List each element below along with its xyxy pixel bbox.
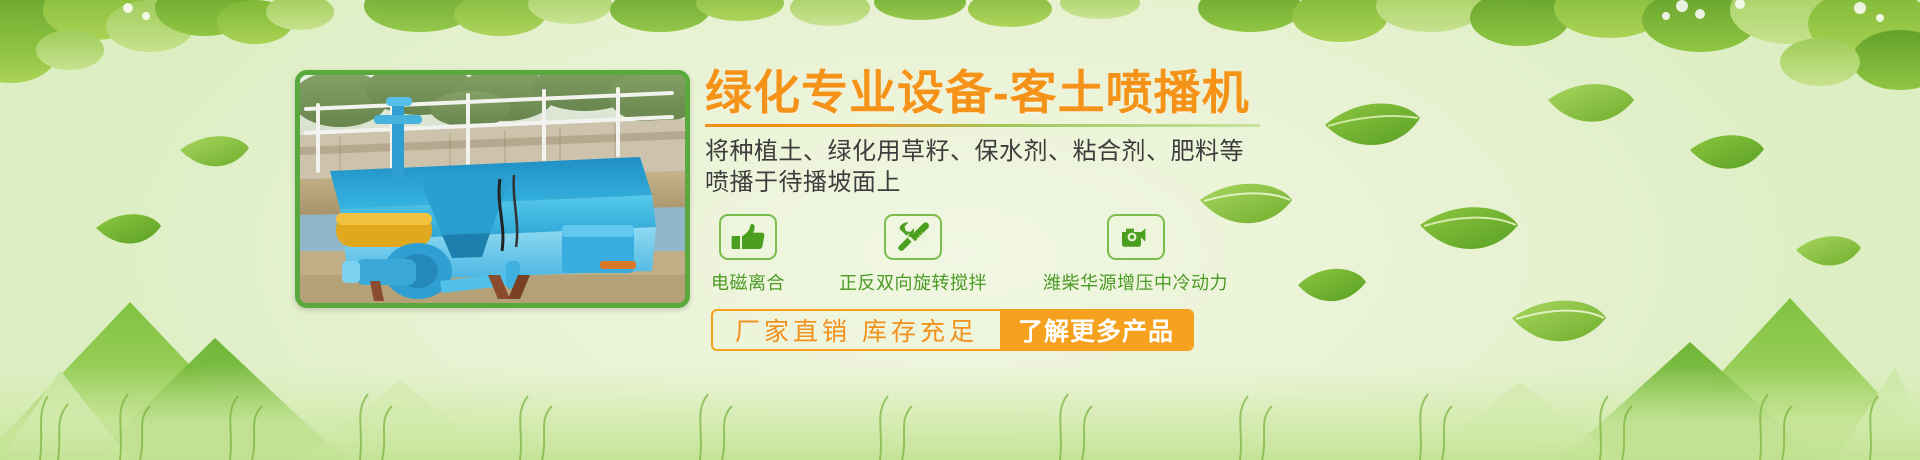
leaf-icon [1796,236,1861,265]
learn-more-button[interactable]: 了解更多产品 [1000,311,1192,349]
feature-label: 正反双向旋转搅拌 [839,269,987,295]
cta-bar: 厂家直销 库存充足 了解更多产品 [711,309,1194,351]
feature-item-electromagnetic-clutch[interactable]: 电磁离合 [711,214,785,295]
product-photo[interactable] [295,70,690,308]
engine-icon [1107,214,1165,260]
product-photo-image [300,75,685,303]
thumbs-up-glyph [731,223,765,251]
feature-list: 电磁离合 正反双向旋转搅拌 [705,214,1405,295]
leaf-icon [96,214,161,243]
leaf-icon [1512,301,1606,342]
machine-illustration [300,75,685,303]
thumbs-up-icon [719,214,777,260]
cta-slogan: 厂家直销 库存充足 [713,311,1000,349]
feature-item-bidirectional-mixing[interactable]: 正反双向旋转搅拌 [839,214,987,295]
banner-subtitle-line1: 将种植土、绿化用草籽、保水剂、粘合剂、肥料等 [705,136,1405,167]
banner-content: 绿化专业设备-客土喷播机 将种植土、绿化用草籽、保水剂、粘合剂、肥料等 喷播于待… [705,66,1405,351]
tools-icon [884,214,942,260]
banner-subtitle-line2: 喷播于待播坡面上 [705,167,1405,198]
title-divider [705,124,1260,127]
leaf-icon [1548,84,1634,122]
leaf-icon [1690,135,1764,168]
promo-banner: 绿化专业设备-客土喷播机 将种植土、绿化用草籽、保水剂、粘合剂、肥料等 喷播于待… [0,0,1920,460]
feature-label: 潍柴华源增压中冷动力 [1043,269,1228,295]
feature-label: 电磁离合 [711,269,785,295]
feature-item-weichai-power[interactable]: 潍柴华源增压中冷动力 [1043,214,1228,295]
wrench-screwdriver-glyph [896,222,930,252]
banner-title: 绿化专业设备-客土喷播机 [705,66,1405,120]
leaf-icon [1420,207,1518,249]
leaf-icon [180,136,249,166]
engine-glyph [1119,222,1153,252]
